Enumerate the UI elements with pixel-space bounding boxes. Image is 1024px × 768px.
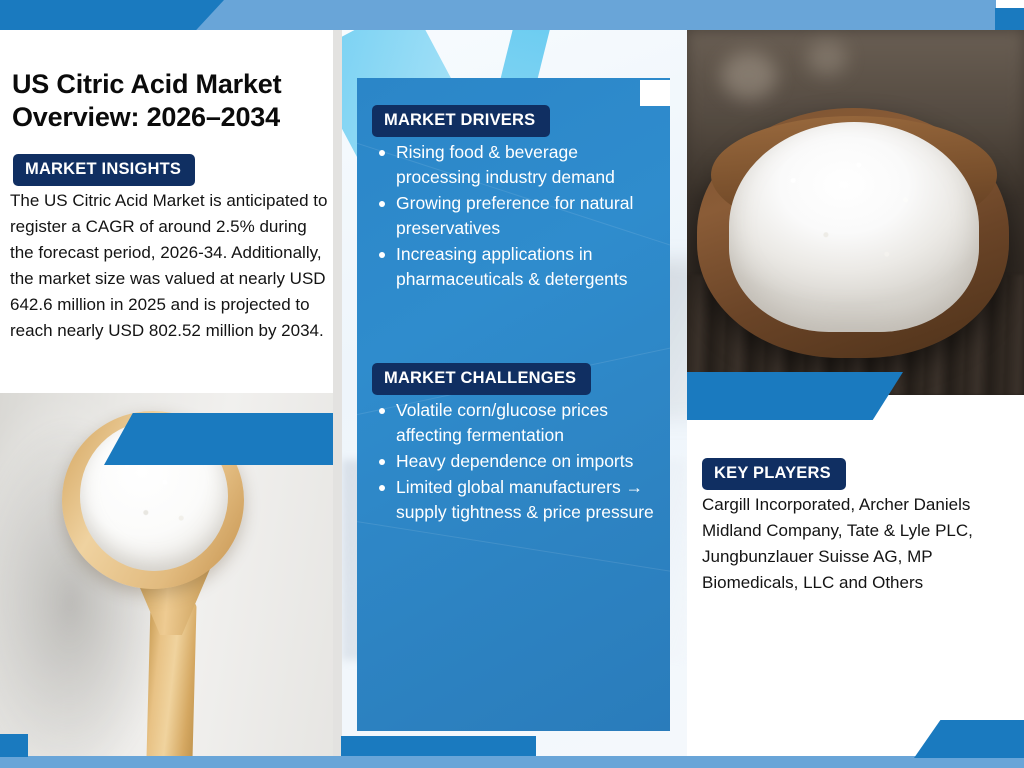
key-players-body: Cargill Incorporated, Archer Daniels Mid… — [702, 492, 1007, 596]
market-drivers-badge: MARKET DRIVERS — [372, 105, 550, 137]
white-powder-mound — [729, 122, 979, 332]
bottom-left-accent-square — [0, 734, 28, 757]
key-players-badge: KEY PLAYERS — [702, 458, 846, 490]
page-title: US Citric Acid Market Overview: 2026–203… — [12, 68, 324, 134]
right-photo-blue-parallelogram — [687, 372, 903, 420]
left-product-photo — [0, 393, 333, 768]
list-item: Heavy dependence on imports — [373, 449, 658, 474]
drivers-challenges-panel: MARKET DRIVERS Rising food & beverage pr… — [357, 78, 670, 731]
market-insights-card: US Citric Acid Market Overview: 2026–203… — [0, 30, 333, 393]
left-photo-blue-parallelogram — [104, 413, 333, 465]
market-insights-badge: MARKET INSIGHTS — [13, 154, 195, 186]
right-column: KEY PLAYERS Cargill Incorporated, Archer… — [687, 30, 1024, 756]
left-column: US Citric Acid Market Overview: 2026–203… — [0, 30, 333, 756]
market-drivers-list: Rising food & beverage processing indust… — [373, 140, 658, 293]
list-item: Limited global manufacturers → supply ti… — [373, 475, 658, 525]
market-insights-body: The US Citric Acid Market is anticipated… — [10, 188, 332, 344]
right-product-photo — [687, 30, 1024, 395]
bottom-decorative-band — [0, 756, 1024, 768]
panel-corner-notch — [640, 80, 670, 106]
list-item: Volatile corn/glucose prices affecting f… — [373, 398, 658, 448]
right-photo-bokeh-1 — [721, 52, 777, 100]
market-challenges-list: Volatile corn/glucose prices affecting f… — [373, 398, 658, 526]
right-photo-bokeh-2 — [807, 40, 847, 76]
list-item: Growing preference for natural preservat… — [373, 191, 658, 241]
list-item: Increasing applications in pharmaceutica… — [373, 242, 658, 292]
market-challenges-badge: MARKET CHALLENGES — [372, 363, 591, 395]
infographic-page: US Citric Acid Market Overview: 2026–203… — [0, 0, 1024, 768]
center-gutter — [333, 30, 342, 756]
list-item: Rising food & beverage processing indust… — [373, 140, 658, 190]
